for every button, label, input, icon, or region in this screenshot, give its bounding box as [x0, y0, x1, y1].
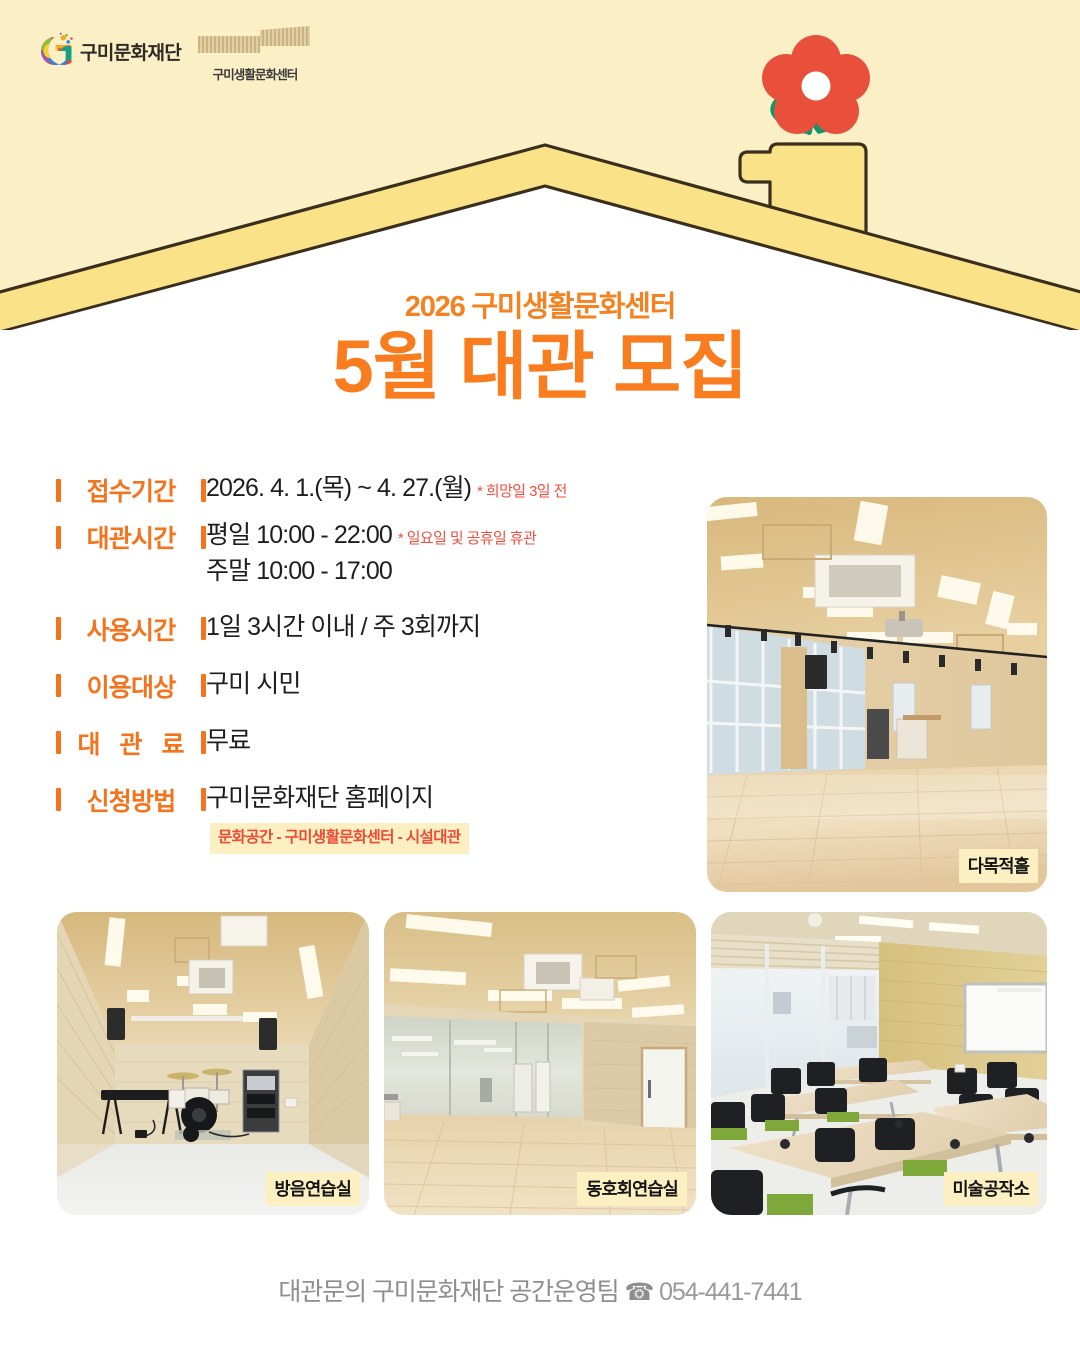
bar-left-icon: [56, 788, 61, 811]
bar-left-icon: [56, 674, 61, 697]
bar-left-icon: [56, 617, 61, 640]
center-building-icon: [198, 26, 310, 62]
foundation-g-mark-icon: [36, 32, 74, 70]
info-value: 2026. 4. 1.(목) ~ 4. 27.(월)* 희망일 3일 전: [206, 470, 567, 506]
info-value-text-line2: 주말 10:00 - 17:00: [206, 553, 536, 589]
info-row-rental-hours: 대관시간 평일 10:00 - 22:00* 일요일 및 공휴일 휴관 주말 1…: [56, 517, 696, 590]
info-value-text: 2026. 4. 1.(목) ~ 4. 27.(월): [206, 474, 471, 502]
info-value-text: 구미 시민: [206, 670, 300, 698]
info-row-how-to-apply: 신청방법 구미문화재단 홈페이지 문화공간 - 구미생활문화센터 - 시설대관: [56, 780, 696, 855]
info-label-text: 이용대상: [79, 668, 184, 704]
info-value: 구미문화재단 홈페이지 문화공간 - 구미생활문화센터 - 시설대관: [206, 780, 696, 855]
info-label-text: 대관시간: [79, 519, 184, 555]
info-row-usage-time: 사용시간 1일 3시간 이내 / 주 3회까지: [56, 609, 696, 647]
footer-text: 대관문의 구미문화재단 공간운영팀: [278, 1278, 618, 1306]
info-row-rental-fee: 대 관 료 무료: [56, 723, 696, 761]
photo-caption: 방음연습실: [266, 1172, 361, 1206]
info-value-text: 무료: [206, 727, 250, 755]
club-practice-room-photo: 동호회연습실: [384, 912, 696, 1215]
info-value-text: 구미문화재단 홈페이지: [206, 784, 433, 812]
logo-group: 구미문화재단 구미생활문화센터: [36, 26, 356, 106]
photo-caption: 다목적홀: [959, 849, 1038, 883]
info-value: 1일 3시간 이내 / 주 3회까지: [206, 609, 480, 645]
info-value-text: 평일 10:00 - 22:00: [206, 521, 392, 549]
multi-purpose-hall-photo: 다목적홀: [707, 497, 1047, 892]
info-label: 사용시간: [56, 609, 206, 647]
poster-kicker: 2026 구미생활문화센터: [0, 283, 1080, 325]
info-label: 대관시간: [56, 517, 206, 555]
bar-left-icon: [56, 526, 61, 549]
bar-left-icon: [56, 479, 61, 502]
info-label: 접수기간: [56, 470, 206, 508]
gumi-culture-foundation-logo: 구미문화재단: [36, 32, 181, 70]
footer-contact: 대관문의 구미문화재단 공간운영팀 ☎ 054-441-7441: [0, 1272, 1080, 1308]
info-label-text: 접수기간: [79, 472, 184, 508]
poster-root: 구미문화재단 구미생활문화센터 2026 구미생활문화센터 5월 대관 모집 접…: [0, 0, 1080, 1350]
photo-caption: 동호회연습실: [577, 1172, 687, 1206]
photo-caption: 미술공작소: [944, 1172, 1039, 1206]
info-value-note: * 희망일 3일 전: [477, 483, 567, 500]
telephone-icon: ☎: [624, 1279, 653, 1306]
art-workshop-photo: 미술공작소: [711, 912, 1047, 1215]
footer-phone-number: 054-441-7441: [659, 1278, 802, 1306]
info-label: 대 관 료: [56, 723, 206, 761]
info-row-application-period: 접수기간 2026. 4. 1.(목) ~ 4. 27.(월)* 희망일 3일 …: [56, 470, 696, 508]
info-value-text: 1일 3시간 이내 / 주 3회까지: [206, 613, 480, 641]
info-value: 평일 10:00 - 22:00* 일요일 및 공휴일 휴관 주말 10:00 …: [206, 517, 536, 590]
gumi-living-culture-center-logo: 구미생활문화센터: [196, 26, 336, 83]
center-logo-text: 구미생활문화센터: [196, 64, 314, 83]
info-list: 접수기간 2026. 4. 1.(목) ~ 4. 27.(월)* 희망일 3일 …: [56, 470, 696, 863]
info-row-eligible-users: 이용대상 구미 시민: [56, 666, 696, 704]
info-value-note: * 일요일 및 공휴일 휴관: [398, 530, 536, 547]
info-value: 무료: [206, 723, 250, 759]
bar-left-icon: [56, 731, 61, 754]
info-label-text: 신청방법: [79, 782, 184, 818]
info-value: 구미 시민: [206, 666, 300, 702]
info-label: 신청방법: [56, 780, 206, 818]
info-label-text: 대 관 료: [70, 725, 193, 761]
page-title: 5월 대관 모집: [0, 330, 1080, 404]
navigation-path-note: 문화공간 - 구미생활문화센터 - 시설대관: [210, 823, 469, 854]
info-label: 이용대상: [56, 666, 206, 704]
foundation-logo-text: 구미문화재단: [80, 38, 181, 65]
soundproof-practice-room-photo: 방음연습실: [57, 912, 369, 1215]
info-label-text: 사용시간: [79, 611, 184, 647]
